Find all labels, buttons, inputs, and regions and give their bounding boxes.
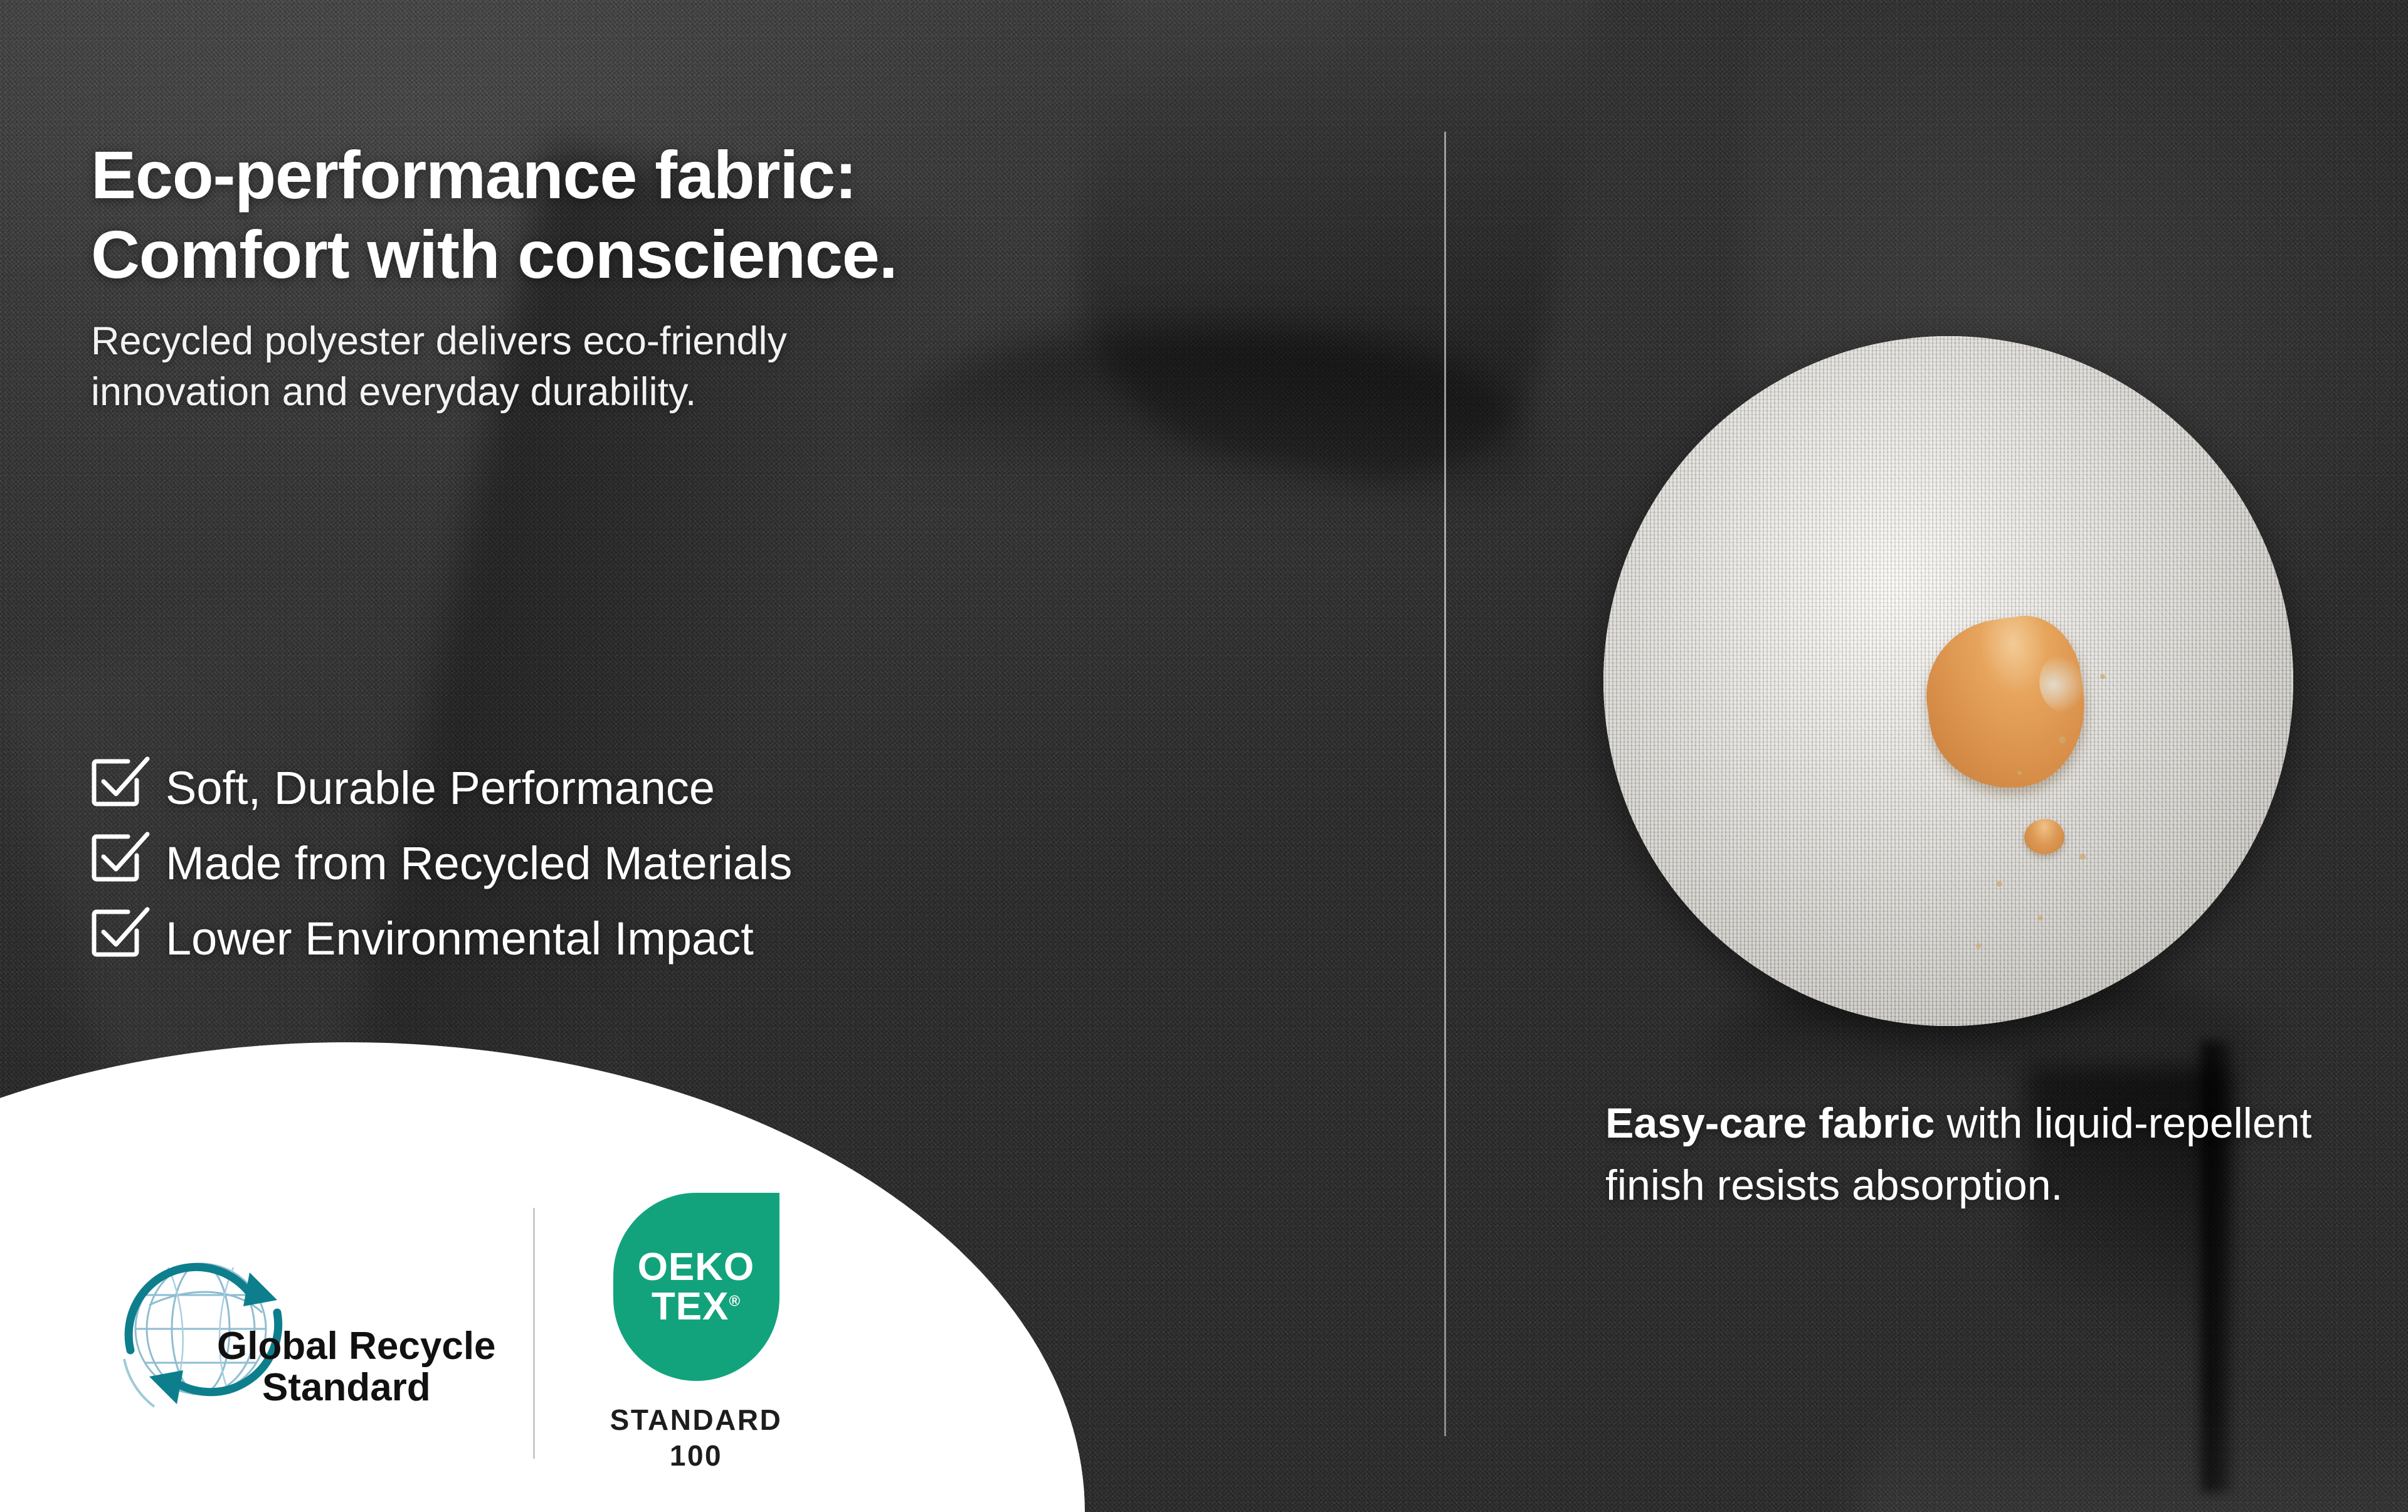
headline-line-2: Comfort with conscience. xyxy=(91,214,1376,294)
oeko-tex-mark-line-2: TEX® xyxy=(652,1287,741,1326)
subheadline-line-2: innovation and everyday durability. xyxy=(91,367,1376,418)
global-recycled-standard-logo: Global Recycled Standard xyxy=(94,1230,495,1437)
oeko-tex-mark-line-1: OEKO xyxy=(638,1247,755,1287)
feature-label: Soft, Durable Performance xyxy=(166,765,715,812)
oeko-tex-logo: OEKO TEX® STANDARD 100 xyxy=(593,1193,800,1474)
checkbox-checked-icon xyxy=(93,914,142,963)
droplet-speck xyxy=(2079,854,2086,860)
caption-bold-lead: Easy-care fabric xyxy=(1605,1099,1935,1147)
headline-line-1: Eco-performance fabric: xyxy=(91,137,857,213)
list-item: Made from Recycled Materials xyxy=(93,839,792,888)
grs-label-line-2: Standard xyxy=(262,1366,431,1409)
certification-panel: Global Recycled Standard OEKO TEX® xyxy=(0,1042,1085,1512)
right-caption: Easy-care fabric with liquid-repellent f… xyxy=(1605,1092,2377,1216)
grs-label-line-1: Global Recycled xyxy=(217,1324,495,1368)
droplet-speck xyxy=(2038,916,2043,921)
subheadline: Recycled polyester delivers eco-friendly… xyxy=(91,316,1376,417)
checkbox-checked-icon xyxy=(93,764,142,813)
droplet-speck xyxy=(2059,736,2066,743)
list-item: Soft, Durable Performance xyxy=(93,764,792,813)
oeko-tex-standard-label: STANDARD 100 xyxy=(610,1402,783,1474)
feature-label: Lower Environmental Impact xyxy=(166,916,754,962)
subheadline-line-1: Recycled polyester delivers eco-friendly xyxy=(91,319,787,363)
droplet-speck xyxy=(2100,674,2105,679)
list-item: Lower Environmental Impact xyxy=(93,914,792,963)
left-copy-block: Eco-performance fabric: Comfort with con… xyxy=(91,135,1376,417)
certification-row: Global Recycled Standard OEKO TEX® xyxy=(94,1193,800,1474)
liquid-droplet-on-fabric-photo xyxy=(1603,336,2293,1026)
registered-mark: ® xyxy=(729,1293,741,1309)
oeko-tex-mark-tex: TEX xyxy=(652,1285,729,1328)
standard-number: 100 xyxy=(610,1438,783,1474)
checkbox-checked-icon xyxy=(93,839,142,888)
droplet-speck xyxy=(1976,943,1981,948)
badge-divider xyxy=(533,1208,535,1459)
feature-label: Made from Recycled Materials xyxy=(166,840,792,887)
droplet-speck xyxy=(2017,771,2022,775)
standard-word: STANDARD xyxy=(610,1404,783,1436)
droplet-speck xyxy=(1997,881,2002,887)
oeko-tex-droplet-icon: OEKO TEX® xyxy=(613,1193,779,1381)
vertical-divider xyxy=(1444,132,1446,1436)
feature-checklist: Soft, Durable Performance Made from Recy… xyxy=(93,764,792,963)
promo-banner: Eco-performance fabric: Comfort with con… xyxy=(0,0,2408,1512)
liquid-droplet-small xyxy=(2024,819,2064,854)
page-title: Eco-performance fabric: Comfort with con… xyxy=(91,135,1376,295)
